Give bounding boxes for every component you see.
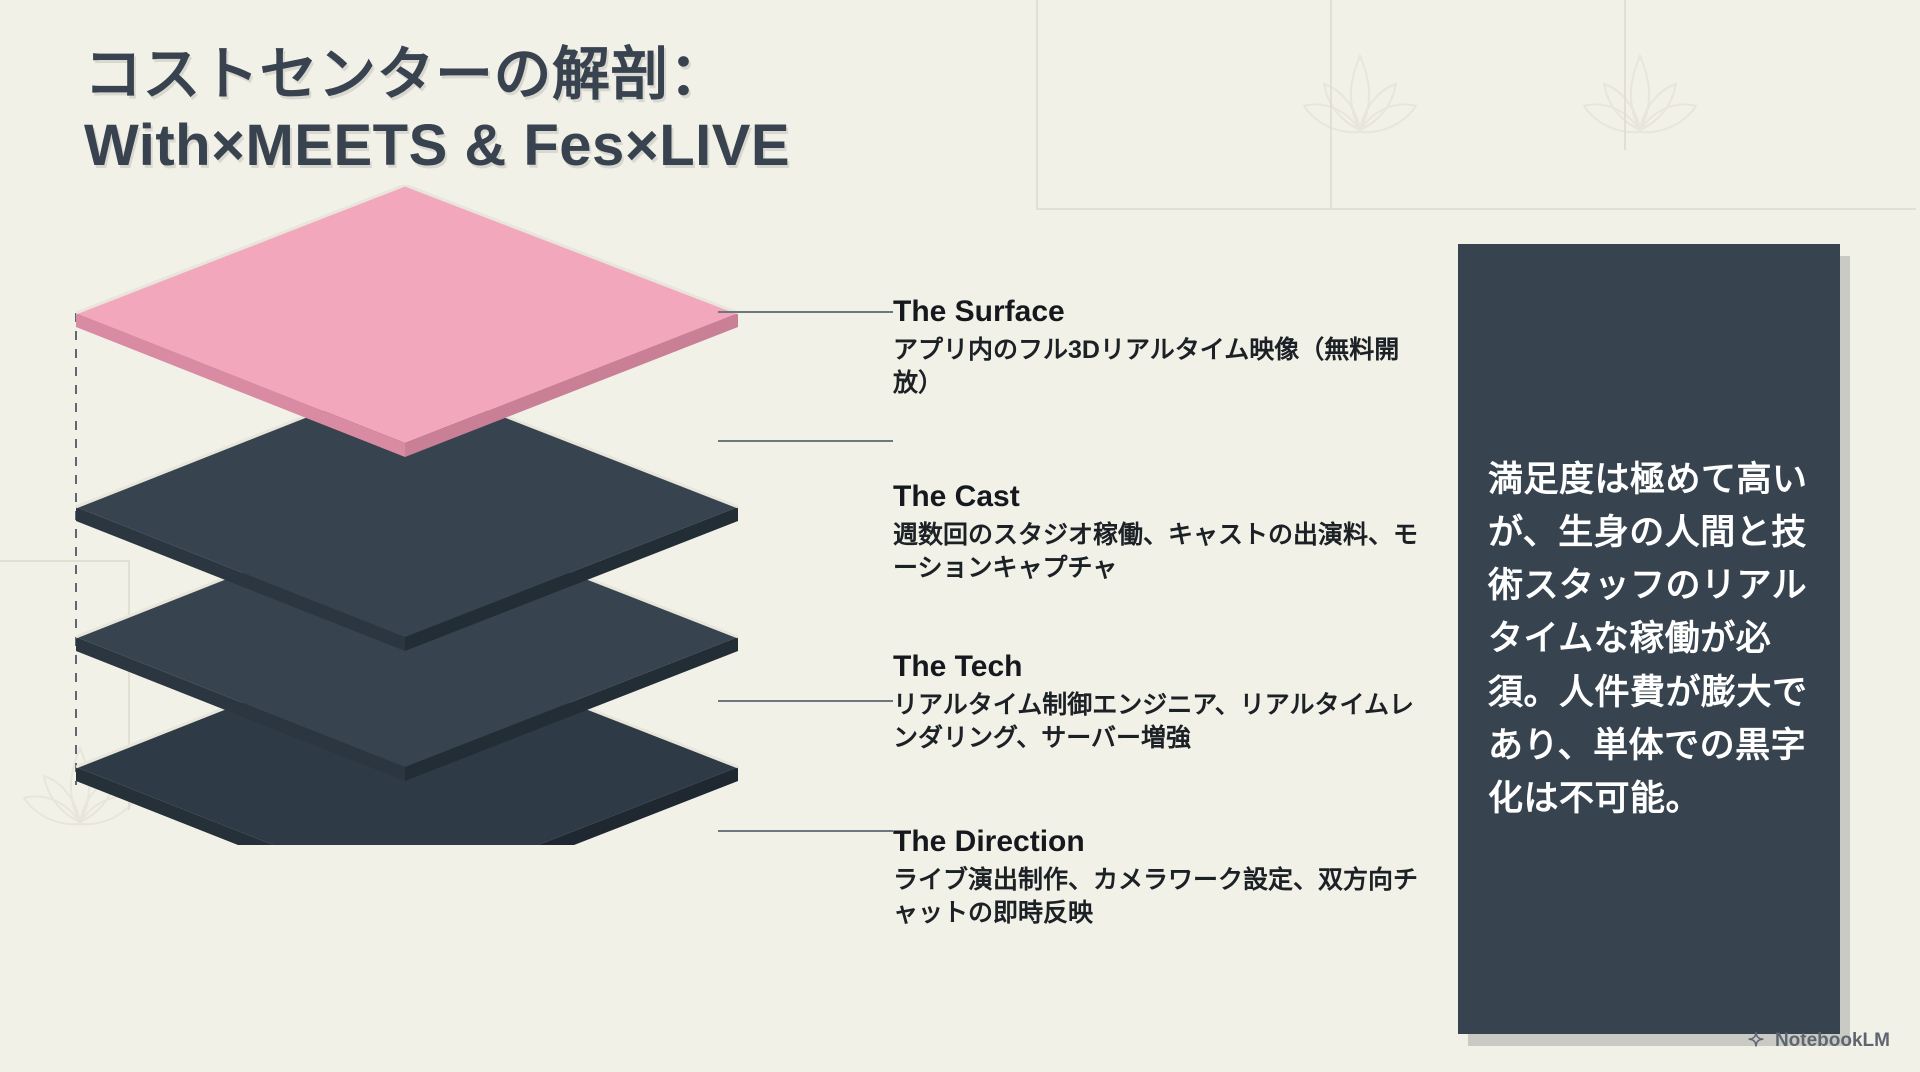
layer-description-cast: 週数回のスタジオ稼働、キャストの出演料、モーションキャプチャ <box>893 519 1433 585</box>
leader-line-direction <box>718 830 893 832</box>
layer-title-cast: The Cast <box>893 480 1433 513</box>
callout-panel: 満足度は極めて高いが、生身の人間と技術スタッフのリアルタイムな稼働が必須。人件費… <box>1458 244 1840 1034</box>
leader-line-cast <box>718 440 893 442</box>
callout-text: 満足度は極めて高いが、生身の人間と技術スタッフのリアルタイムな稼働が必須。人件費… <box>1458 453 1840 825</box>
notebooklm-logo-icon <box>1745 1030 1767 1052</box>
layer-shape-surface <box>76 185 738 457</box>
layer-description-tech: リアルタイム制御エンジニア、リアルタイムレンダリング、サーバー増強 <box>893 689 1433 755</box>
slide-canvas: コストセンターの解剖： With×MEETS & Fes×LIVE <box>0 0 1920 1072</box>
exploded-layer-stack-diagram <box>40 185 740 845</box>
layer-title-surface: The Surface <box>893 295 1433 328</box>
title-line-2: With×MEETS & Fes×LIVE <box>84 111 1084 182</box>
layer-label-surface: The Surface アプリ内のフル3Dリアルタイム映像（無料開放） <box>893 295 1433 400</box>
leader-line-tech <box>718 700 893 702</box>
lotus-icon <box>1290 38 1430 168</box>
layer-label-cast: The Cast 週数回のスタジオ稼働、キャストの出演料、モーションキャプチャ <box>893 480 1433 585</box>
title-line-1: コストセンターの解剖： <box>84 40 1084 111</box>
page-title: コストセンターの解剖： With×MEETS & Fes×LIVE <box>84 40 1084 182</box>
layer-description-direction: ライブ演出制作、カメラワーク設定、双方向チャットの即時反映 <box>893 864 1433 930</box>
layer-description-surface: アプリ内のフル3Dリアルタイム映像（無料開放） <box>893 334 1433 400</box>
layer-title-tech: The Tech <box>893 650 1433 683</box>
layer-label-tech: The Tech リアルタイム制御エンジニア、リアルタイムレンダリング、サーバー… <box>893 650 1433 755</box>
grid-line <box>1624 0 1626 150</box>
layer-label-direction: The Direction ライブ演出制作、カメラワーク設定、双方向チャットの即… <box>893 825 1433 930</box>
grid-line <box>1036 208 1916 210</box>
grid-line <box>1330 0 1332 210</box>
notebooklm-watermark: NotebookLM <box>1745 1030 1890 1052</box>
lotus-icon <box>1570 38 1710 168</box>
layer-title-direction: The Direction <box>893 825 1433 858</box>
notebooklm-label: NotebookLM <box>1775 1030 1890 1052</box>
leader-line-surface <box>718 311 893 313</box>
